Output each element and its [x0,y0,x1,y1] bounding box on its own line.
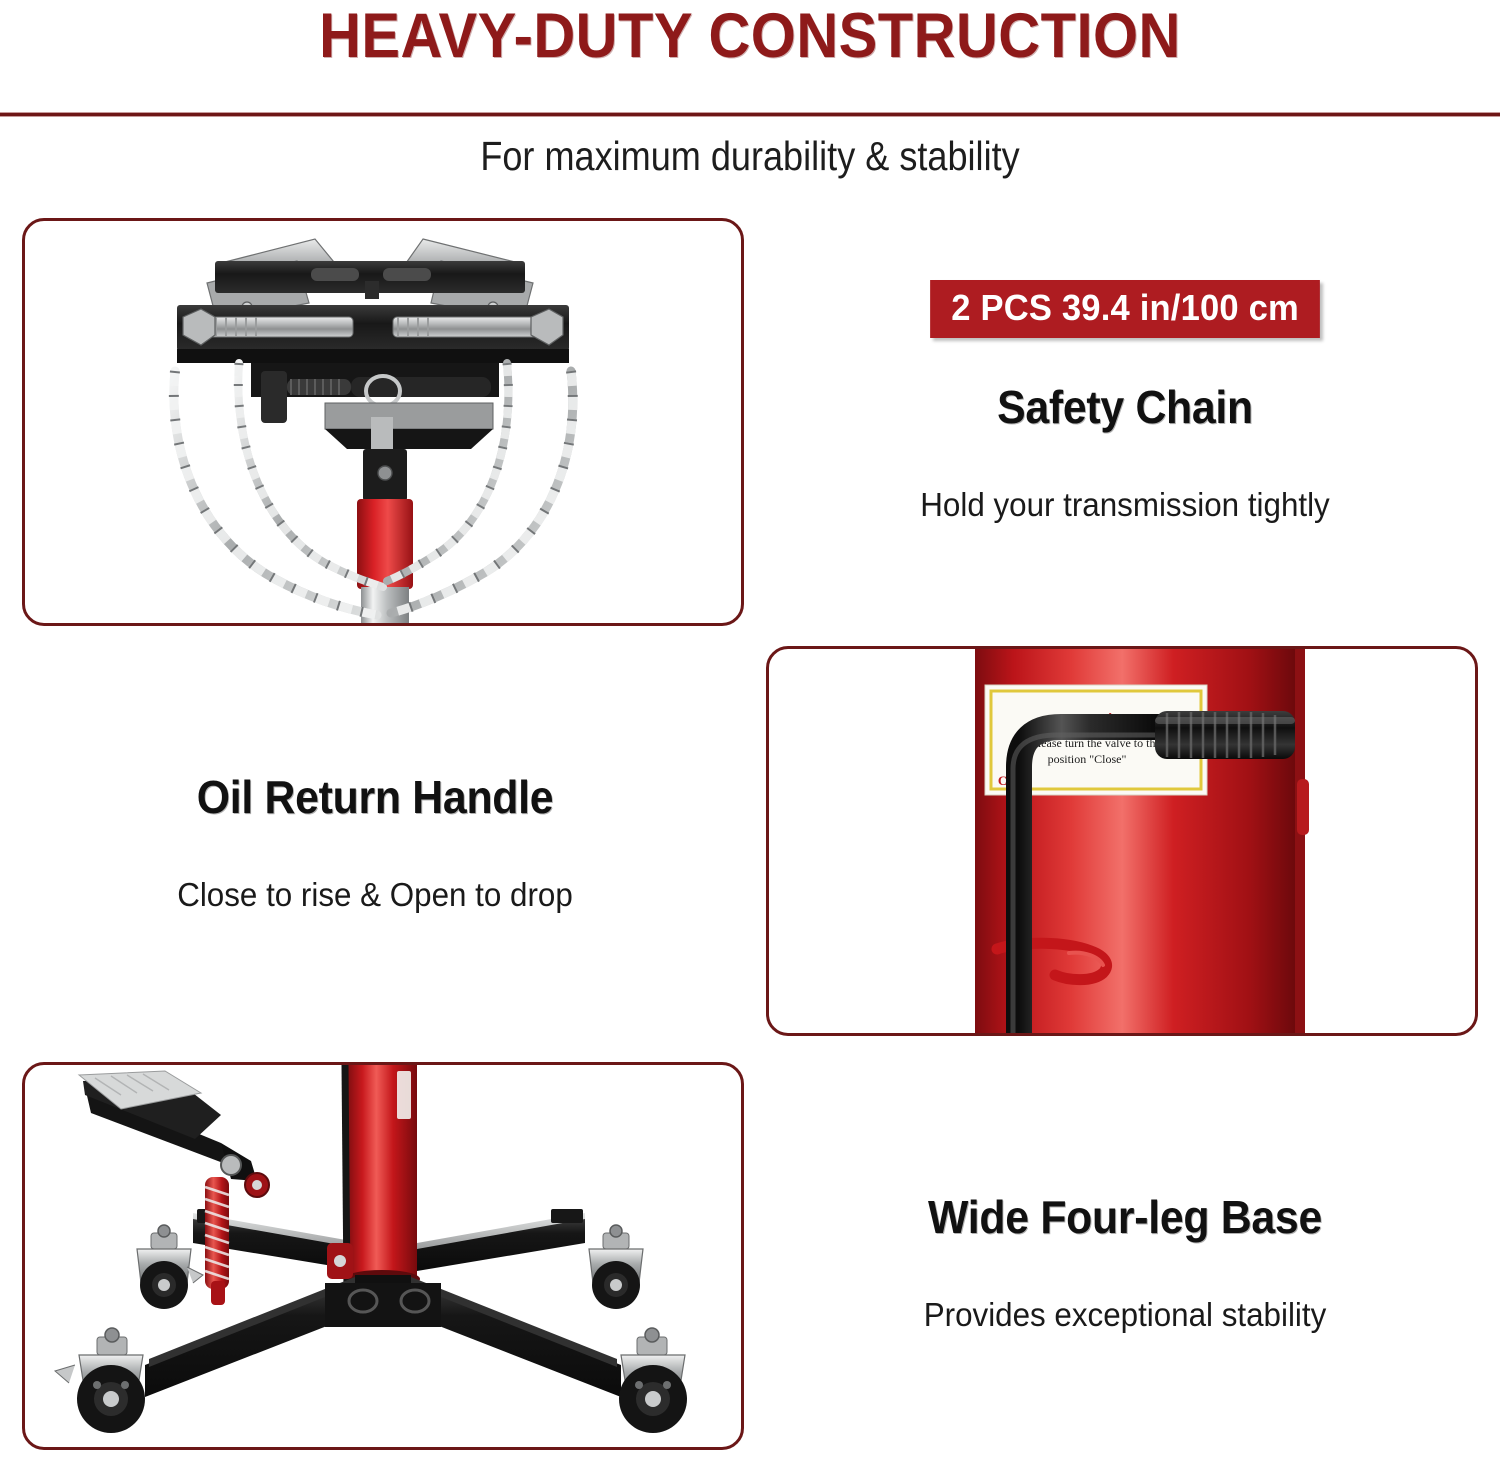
feature-title-oil-return-handle: Oil Return Handle [36,770,715,824]
saddle-mechanism [251,363,499,463]
feature-title-four-leg-base: Wide Four-leg Base [786,1190,1465,1244]
safety-chain-illustration [25,221,741,623]
status-badge-safety-chain: 2 PCS 39.4 in/100 cm [930,280,1320,338]
lift-column [357,449,413,623]
pedal-return-spring [205,1177,229,1305]
photo-stage-oil-return-handle: Attention Please turn the valve to the p… [769,649,1475,1033]
feature-description-four-leg-base: Provides exceptional stability [778,1296,1472,1334]
foot-pedal-arm [79,1071,269,1197]
infographic-page: HEAVY-DUTY CONSTRUCTION For maximum dura… [0,0,1500,1468]
caster-front-left [55,1328,145,1433]
spacer [10,824,740,876]
feature-block-oil-return-handle: Oil Return Handle Close to rise & Open t… [10,770,740,914]
saddle-main-beam [177,305,569,363]
spacer [760,434,1490,486]
caster-rear-right [589,1225,643,1309]
lift-column-red [344,1065,420,1288]
page-title: HEAVY-DUTY CONSTRUCTION [60,2,1440,70]
photo-panel-safety-chain [22,218,744,626]
four-leg-base-illustration [25,1065,741,1447]
photo-panel-four-leg-base [22,1062,744,1450]
title-divider [0,112,1500,117]
handle-grip [1155,711,1295,759]
oil-return-handle-illustration: Attention Please turn the valve to the p… [769,649,1475,1033]
badge-wrap-safety-chain: 2 PCS 39.4 in/100 cm [760,280,1490,338]
caster-front-right [619,1328,687,1433]
photo-stage-safety-chain [25,221,741,623]
photo-stage-four-leg-base [25,1065,741,1447]
page-subtitle: For maximum durability & stability [90,133,1410,180]
feature-block-four-leg-base: Wide Four-leg Base Provides exceptional … [760,1190,1490,1334]
attention-line-2: position "Close" [1048,752,1127,766]
feature-description-oil-return-handle: Close to rise & Open to drop [28,876,722,914]
spacer [760,1244,1490,1296]
feature-description-safety-chain: Hold your transmission tightly [778,486,1472,524]
feature-title-safety-chain: Safety Chain [786,380,1465,434]
photo-panel-oil-return-handle: Attention Please turn the valve to the p… [766,646,1478,1036]
feature-block-safety-chain: 2 PCS 39.4 in/100 cm Safety Chain Hold y… [760,280,1490,524]
